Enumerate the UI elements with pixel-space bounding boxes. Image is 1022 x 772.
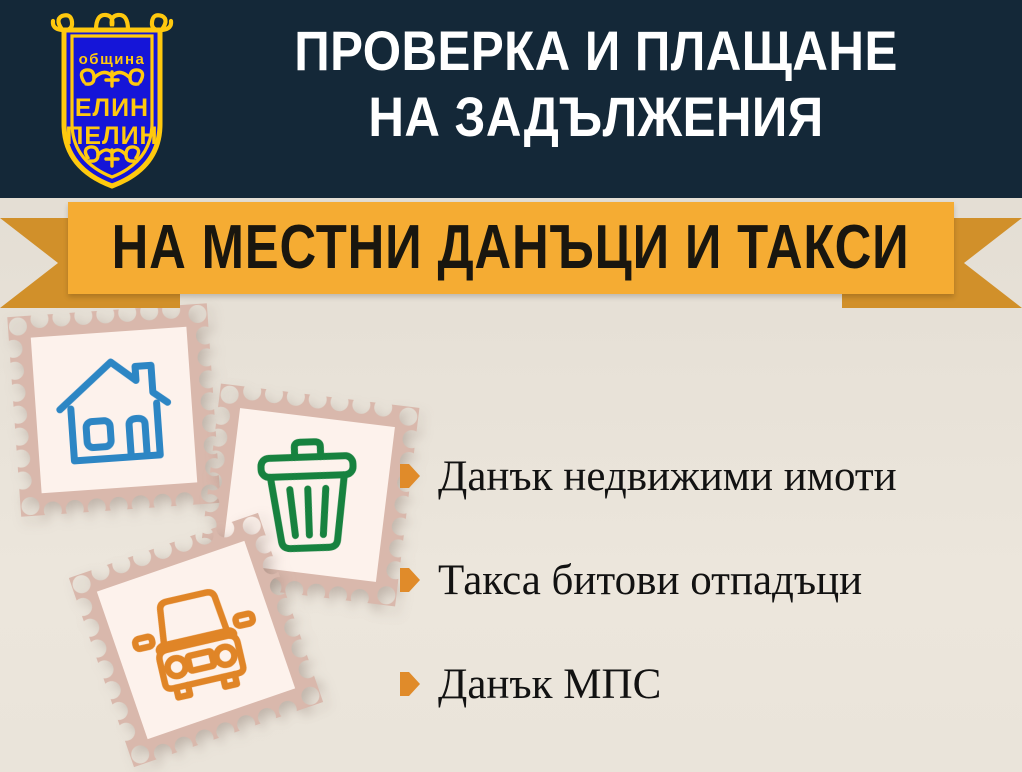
title-line-2: НА ЗАДЪЛЖЕНИЯ [235,84,957,150]
header-bar: община ЕЛИН ПЕЛИН [0,0,1022,198]
page-title: ПРОВЕРКА И ПЛАЩАНЕ НА ЗАДЪЛЖЕНИЯ [186,18,1006,150]
arrow-bullet-icon [400,568,420,592]
arrow-bullet-icon [400,464,420,488]
ribbon-label: НА МЕСТНИ ДАНЪЦИ И ТАКСИ [112,217,910,279]
municipality-logo: община ЕЛИН ПЕЛИН [38,6,186,192]
list-item-label: Данък недвижими имоти [438,455,897,498]
list-item-label: Данък МПС [438,663,661,706]
tax-type-list: Данък недвижими имоти Такса битови отпад… [400,424,1000,736]
list-item[interactable]: Такса битови отпадъци [400,528,1000,632]
coat-of-arms-icon: община ЕЛИН ПЕЛИН [38,6,186,192]
list-item-label: Такса битови отпадъци [438,559,862,602]
arrow-bullet-icon [400,672,420,696]
ribbon-banner: НА МЕСТНИ ДАНЪЦИ И ТАКСИ [0,196,1022,308]
list-item[interactable]: Данък МПС [400,632,1000,736]
list-item[interactable]: Данък недвижими имоти [400,424,1000,528]
stamp-paper [31,327,198,494]
stamp-card-house [7,303,220,516]
logo-text-elin: ЕЛИН [75,94,149,122]
poster-root: община ЕЛИН ПЕЛИН [0,0,1022,772]
title-line-1: ПРОВЕРКА И ПЛАЩАНЕ [235,18,957,84]
logo-text-pelin: ПЕЛИН [65,122,158,150]
ribbon-band: НА МЕСТНИ ДАНЪЦИ И ТАКСИ [68,202,954,294]
logo-text-obshtina: община [79,51,146,68]
